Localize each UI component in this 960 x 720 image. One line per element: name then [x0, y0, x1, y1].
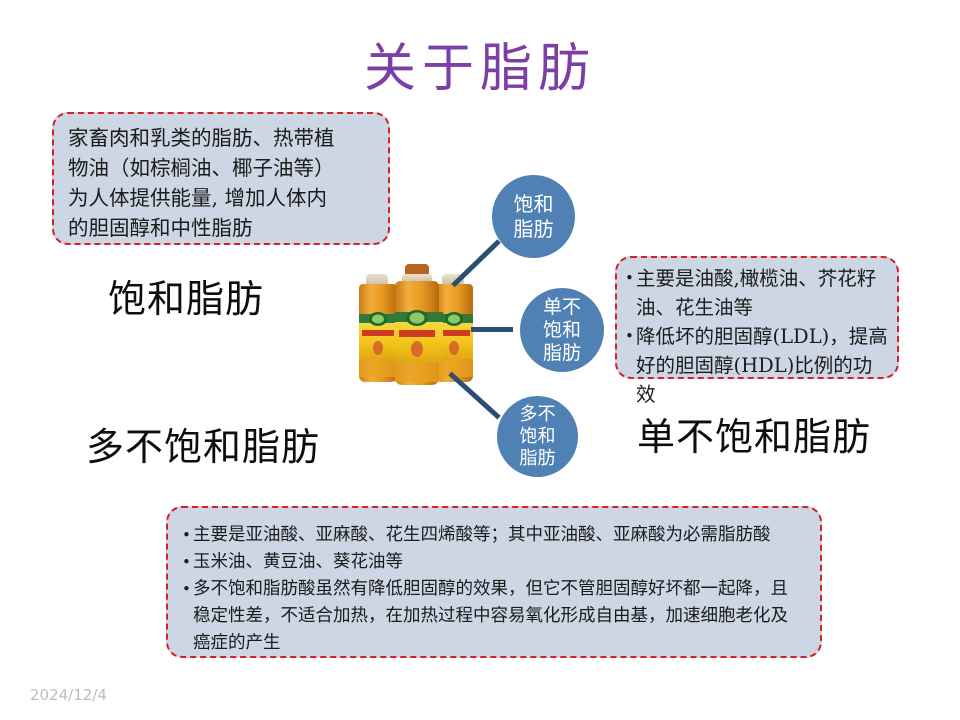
- callout-saturated-line-3: 为人体提供能量, 增加人体内: [68, 183, 376, 213]
- callout-monounsaturated-fat: 主要是油酸,橄榄油、芥花籽 油、花生油等 降低坏的胆固醇(LDL)，提高 好的胆…: [615, 256, 899, 379]
- circle-monounsaturated-fat[interactable]: 单不 饱和 脂肪: [520, 288, 604, 372]
- callout-saturated-line-2: 物油（如棕榈油、椰子油等）: [68, 153, 376, 183]
- callout-poly-bullet-3: 多不饱和脂肪酸虽然有降低胆固醇的效果，但它不管胆固醇好坏都一起降，且: [182, 576, 808, 603]
- callout-mono-bullet-2-cont: 好的胆固醇(HDL)比例的功效: [625, 351, 891, 409]
- circle-mono-line-1: 单不: [543, 296, 581, 319]
- callout-mono-bullet-1: 主要是油酸,橄榄油、芥花籽: [625, 264, 891, 293]
- circle-saturated-line-1: 饱和: [514, 192, 554, 217]
- callout-poly-bullet-3-cont-1: 稳定性差，不适合加热，在加热过程中容易氧化形成自由基，加速细胞老化及: [182, 603, 808, 630]
- slide-canvas: 关于脂肪 家畜肉和乳类的脂肪、热带植 物油（如棕榈油、椰子油等） 为人体提供能量…: [0, 0, 960, 720]
- heading-monounsaturated-fat: 单不饱和脂肪: [637, 414, 871, 460]
- circle-polyunsaturated-fat[interactable]: 多不 饱和 脂肪: [497, 396, 578, 477]
- circle-mono-line-3: 脂肪: [543, 342, 581, 365]
- circle-mono-line-2: 饱和: [543, 319, 581, 342]
- circle-poly-line-1: 多不: [520, 404, 556, 426]
- callout-mono-bullet-2: 降低坏的胆固醇(LDL)，提高: [625, 322, 891, 351]
- callout-poly-bullet-1: 主要是亚油酸、亚麻酸、花生四烯酸等；其中亚油酸、亚麻酸为必需脂肪酸: [182, 522, 808, 549]
- circle-poly-line-2: 饱和: [520, 426, 556, 448]
- callout-saturated-line-1: 家畜肉和乳类的脂肪、热带植: [68, 123, 376, 153]
- page-title: 关于脂肪: [0, 38, 960, 100]
- footer-date: 2024/12/4: [30, 686, 107, 704]
- callout-saturated-line-4: 的胆固醇和中性脂肪: [68, 213, 376, 243]
- circle-saturated-fat[interactable]: 饱和 脂肪: [492, 175, 575, 258]
- callout-mono-bullet-1-cont: 油、花生油等: [625, 293, 891, 322]
- callout-saturated-fat: 家畜肉和乳类的脂肪、热带植 物油（如棕榈油、椰子油等） 为人体提供能量, 增加人…: [52, 112, 390, 245]
- heading-polyunsaturated-fat: 多不饱和脂肪: [86, 424, 320, 470]
- callout-poly-bullet-2: 玉米油、黄豆油、葵花油等: [182, 549, 808, 576]
- callout-poly-bullet-3-cont-2: 癌症的产生: [182, 630, 808, 657]
- circle-poly-line-3: 脂肪: [520, 448, 556, 470]
- callout-polyunsaturated-fat: 主要是亚油酸、亚麻酸、花生四烯酸等；其中亚油酸、亚麻酸为必需脂肪酸 玉米油、黄豆…: [166, 506, 822, 658]
- circle-saturated-line-2: 脂肪: [514, 217, 554, 242]
- heading-saturated-fat: 饱和脂肪: [108, 276, 264, 322]
- connector-line-monounsaturated: [471, 327, 513, 332]
